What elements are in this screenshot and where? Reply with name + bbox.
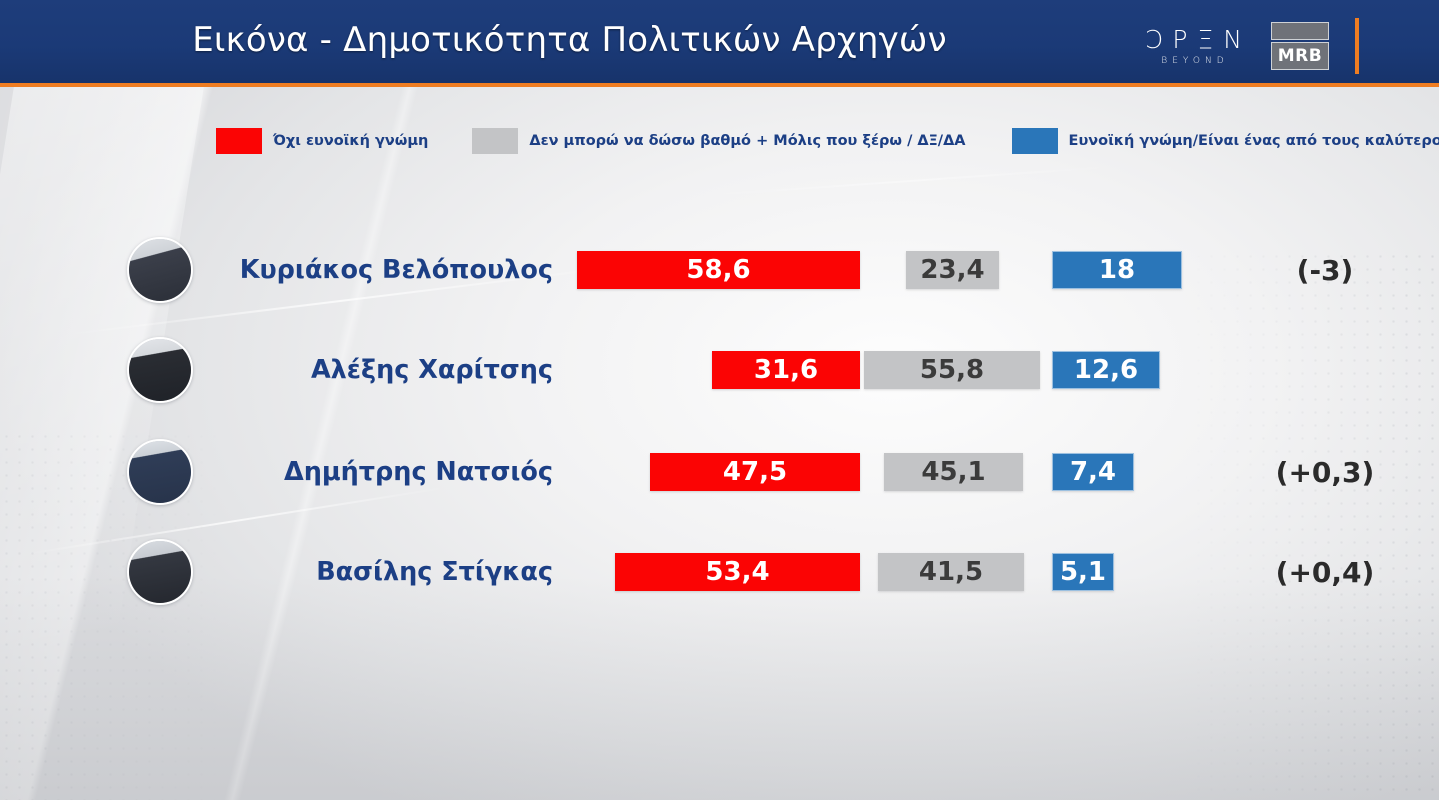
bar-value-dontknow: 55,8 — [920, 357, 984, 383]
bar-value-unfavorable: 47,5 — [723, 459, 787, 485]
bar-dontknow: 45,1 — [884, 453, 1023, 491]
politician-name: Αλέξης Χαρίτσης — [311, 337, 553, 403]
avatar — [127, 237, 193, 303]
chart-rows: Κυριάκος Βελόπουλος58,623,418(-3)Αλέξης … — [0, 0, 1439, 800]
bar-dontknow: 23,4 — [906, 251, 999, 289]
bar-value-favorable: 7,4 — [1070, 459, 1116, 485]
avatar — [127, 337, 193, 403]
delta-value: (-3) — [1255, 237, 1395, 303]
bar-value-favorable: 5,1 — [1060, 559, 1106, 585]
bar-unfavorable: 53,4 — [615, 553, 860, 591]
bar-value-dontknow: 23,4 — [920, 257, 984, 283]
politician-name: Δημήτρης Νατσιός — [284, 439, 553, 505]
bar-favorable: 18 — [1052, 251, 1182, 289]
bar-value-dontknow: 45,1 — [921, 459, 985, 485]
bar-dontknow: 55,8 — [864, 351, 1040, 389]
politician-name: Κυριάκος Βελόπουλος — [240, 237, 553, 303]
bar-unfavorable: 47,5 — [650, 453, 860, 491]
chart-row: Κυριάκος Βελόπουλος58,623,418(-3) — [0, 237, 1439, 303]
chart-row: Δημήτρης Νατσιός47,545,17,4(+0,3) — [0, 439, 1439, 505]
bar-dontknow: 41,5 — [878, 553, 1024, 591]
bar-unfavorable: 58,6 — [577, 251, 860, 289]
avatar — [127, 439, 193, 505]
bar-favorable: 5,1 — [1052, 553, 1114, 591]
bar-value-favorable: 18 — [1099, 257, 1135, 283]
avatar — [127, 539, 193, 605]
broadcast-poll-graphic: Εικόνα - Δημοτικότητα Πολιτικών Αρχηγών … — [0, 0, 1439, 800]
chart-row: Αλέξης Χαρίτσης31,655,812,6 — [0, 337, 1439, 403]
bar-favorable: 12,6 — [1052, 351, 1160, 389]
chart-row: Βασίλης Στίγκας53,441,55,1(+0,4) — [0, 539, 1439, 605]
bar-unfavorable: 31,6 — [712, 351, 860, 389]
bar-value-favorable: 12,6 — [1074, 357, 1138, 383]
delta-value: (+0,3) — [1255, 439, 1395, 505]
bar-value-unfavorable: 58,6 — [686, 257, 750, 283]
bar-value-unfavorable: 31,6 — [754, 357, 818, 383]
politician-name: Βασίλης Στίγκας — [316, 539, 553, 605]
bar-value-dontknow: 41,5 — [919, 559, 983, 585]
bar-value-unfavorable: 53,4 — [705, 559, 769, 585]
delta-value — [1255, 337, 1395, 403]
bar-favorable: 7,4 — [1052, 453, 1134, 491]
delta-value: (+0,4) — [1255, 539, 1395, 605]
